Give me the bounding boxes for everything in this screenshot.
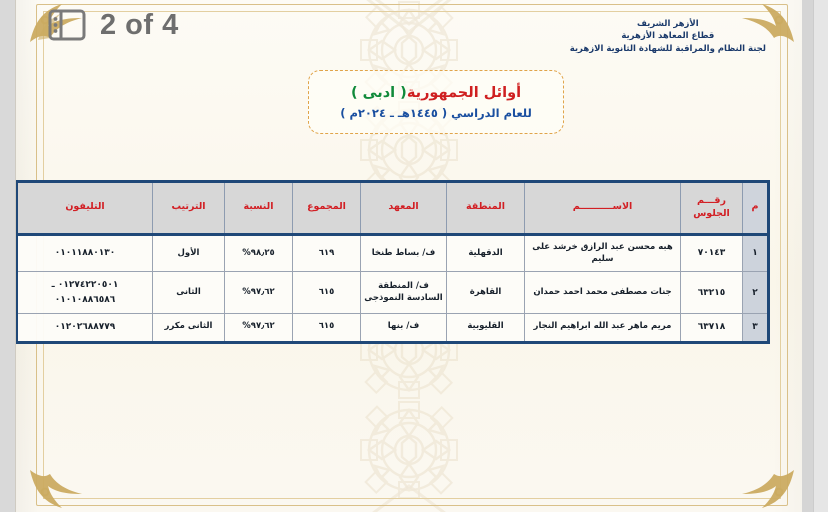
cell-percentage: ٩٧٫٦٢% (225, 272, 293, 314)
cell-rank: الثانى مكرر (153, 314, 225, 342)
header-line-sector: قطاع المعاهد الأزهرية (570, 30, 766, 42)
title-main: أوائل الجمهورية( ادبى ) (351, 85, 521, 101)
cell-index: ٢ (743, 272, 769, 314)
cell-total: ٦١٥ (293, 272, 361, 314)
document-header: الأزهر الشريف قطاع المعاهد الأزهرية لجنة… (570, 18, 766, 55)
cell-percentage: ٩٧٫٦٢% (225, 314, 293, 342)
column-header-institute: المعهد (361, 182, 447, 235)
table-row: ١ ٧٠١٤٣ هبه محسن عبد الرازق خرشد على سلي… (17, 234, 769, 272)
cell-institute: ف/ بساط طنخا (361, 234, 447, 272)
cell-index: ٣ (743, 314, 769, 342)
table-row: ٣ ٦٣٧١٨ مريم ماهر عبد الله ابراهيم النجا… (17, 314, 769, 342)
phone-line-1: ٠١٢٠٢٦٨٨٧٧٩ (21, 320, 149, 334)
cell-rank: الأول (153, 234, 225, 272)
column-header-phone: التليفون (17, 182, 153, 235)
cell-index: ١ (743, 234, 769, 272)
column-header-total: المجموع (293, 182, 361, 235)
cell-name: جنات مصطفى محمد احمد حمدان (525, 272, 681, 314)
document-page: الأزهر الشريف قطاع المعاهد الأزهرية لجنة… (16, 0, 802, 512)
phone-line-2: ٠١٠١٠٨٨٦٥٨٦ (21, 293, 149, 307)
document-viewer: الأزهر الشريف قطاع المعاهد الأزهرية لجنة… (0, 0, 828, 512)
table-header-row: م رقـــم الجلوس الاســــــــــم المنطقة … (17, 182, 769, 235)
results-table-container: م رقـــم الجلوس الاســــــــــم المنطقة … (58, 180, 770, 344)
results-table: م رقـــم الجلوس الاســــــــــم المنطقة … (16, 180, 770, 344)
column-header-region: المنطقة (447, 182, 525, 235)
page-indicator-label: 2 of 4 (100, 9, 179, 42)
column-header-index: م (743, 182, 769, 235)
cell-name: مريم ماهر عبد الله ابراهيم النجار (525, 314, 681, 342)
cell-percentage: ٩٨٫٢٥% (225, 234, 293, 272)
cell-total: ٦١٥ (293, 314, 361, 342)
title-plate: أوائل الجمهورية( ادبى ) للعام الدراسي ( … (308, 70, 564, 134)
cell-seat-number: ٦٣٢١٥ (681, 272, 743, 314)
cell-region: القاهرة (447, 272, 525, 314)
cell-region: القليوبية (447, 314, 525, 342)
phone-line-1: ٠١٢٧٤٢٢٠٥٠١ ـ (21, 278, 149, 292)
page-indicator[interactable]: 2 of 4 (48, 8, 179, 42)
column-header-rank: الترتيب (153, 182, 225, 235)
cell-institute: ف/ المنطقة السادسة النموذجى (361, 272, 447, 314)
cell-institute: ف/ بنها (361, 314, 447, 342)
column-header-percentage: النسبة (225, 182, 293, 235)
title-main-part2: ( ادبى ) (351, 85, 407, 101)
title-main-part1: أوائل الجمهورية (407, 85, 521, 101)
cell-total: ٦١٩ (293, 234, 361, 272)
column-header-name: الاســــــــــم (525, 182, 681, 235)
cell-phone: ٠١٢٧٤٢٢٠٥٠١ ـ ٠١٠١٠٨٨٦٥٨٦ (17, 272, 153, 314)
scrollbar-vertical[interactable] (813, 0, 828, 512)
cell-seat-number: ٧٠١٤٣ (681, 234, 743, 272)
cell-phone: ٠١٠١١٨٨٠١٣٠ (17, 234, 153, 272)
results-table-body: ١ ٧٠١٤٣ هبه محسن عبد الرازق خرشد على سلي… (17, 234, 769, 342)
cell-name: هبه محسن عبد الرازق خرشد على سليم (525, 234, 681, 272)
title-subtitle: للعام الدراسي ( ١٤٤٥هـ ـ ٢٠٢٤م ) (340, 106, 532, 120)
cell-phone: ٠١٢٠٢٦٨٨٧٧٩ (17, 314, 153, 342)
cell-region: الدقهلية (447, 234, 525, 272)
column-header-seat-number: رقـــم الجلوس (681, 182, 743, 235)
phone-line-1: ٠١٠١١٨٨٠١٣٠ (21, 246, 149, 260)
table-row: ٢ ٦٣٢١٥ جنات مصطفى محمد احمد حمدان القاه… (17, 272, 769, 314)
cell-rank: الثانى (153, 272, 225, 314)
header-line-azhar: الأزهر الشريف (570, 18, 766, 30)
page-layout-icon[interactable] (48, 8, 86, 42)
header-line-committee: لجنة النظام والمراقبة للشهادة الثانوية ا… (570, 43, 766, 55)
cell-seat-number: ٦٣٧١٨ (681, 314, 743, 342)
